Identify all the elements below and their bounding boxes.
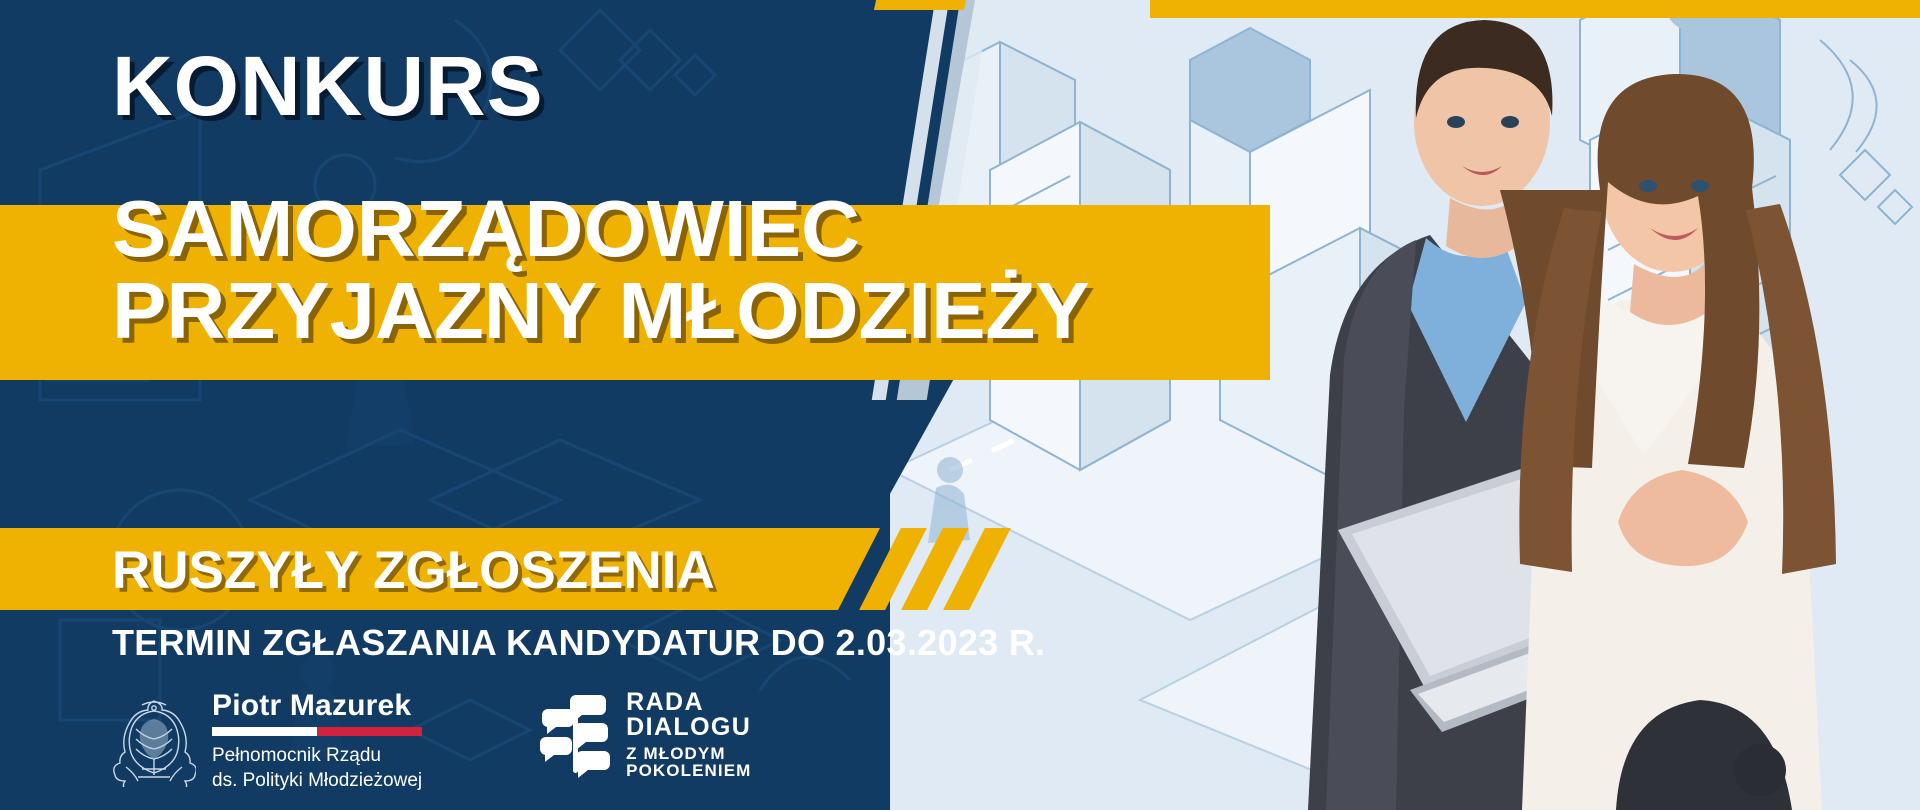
kicker-text: KONKURS: [112, 44, 544, 128]
main-title-line-1: SAMORZĄDOWIEC: [112, 188, 1254, 270]
government-logo-text: Piotr Mazurek Pełnomocnik Rządu ds. Poli…: [212, 690, 422, 793]
two-young-people-photo: [1230, 0, 1920, 810]
government-official-name: Piotr Mazurek: [212, 690, 422, 722]
flag-stripe-white: [212, 727, 317, 736]
main-title-line-2: PRZYJAZNY MŁODZIEŻY: [112, 270, 1254, 352]
speech-bubble-tree-icon: [540, 691, 612, 779]
promo-banner: KONKURS SAMORZĄDOWIEC PRZYJAZNY MŁODZIEŻ…: [0, 0, 1920, 810]
government-role-line-1: Pełnomocnik Rządu: [212, 743, 422, 768]
main-title: SAMORZĄDOWIEC PRZYJAZNY MŁODZIEŻY: [112, 188, 1232, 353]
top-yellow-strip: [1150, 0, 1920, 18]
deadline-text: TERMIN ZGŁASZANIA KANDYDATUR DO 2.03.202…: [112, 622, 1045, 664]
submissions-open-text: RUSZYŁY ZGŁOSZENIA: [112, 540, 715, 601]
council-name-line-2: DIALOGU: [626, 715, 751, 740]
polish-eagle-emblem-icon: [112, 695, 196, 787]
council-logo: RADA DIALOGU Z MŁODYM POKOLENIEM: [540, 690, 751, 779]
footer-logos: Piotr Mazurek Pełnomocnik Rządu ds. Poli…: [112, 690, 751, 793]
council-tagline-line-2: POKOLENIEM: [626, 762, 751, 779]
government-logo: Piotr Mazurek Pełnomocnik Rządu ds. Poli…: [112, 690, 422, 793]
council-tagline-line-1: Z MŁODYM: [626, 745, 751, 762]
polish-flag-bar: [212, 727, 422, 736]
flag-stripe-red: [317, 727, 422, 736]
council-logo-text: RADA DIALOGU Z MŁODYM POKOLENIEM: [626, 690, 751, 779]
government-role-line-2: ds. Polityki Młodzieżowej: [212, 768, 422, 793]
council-name-line-1: RADA: [626, 690, 751, 715]
top-yellow-accent: [874, 0, 966, 10]
